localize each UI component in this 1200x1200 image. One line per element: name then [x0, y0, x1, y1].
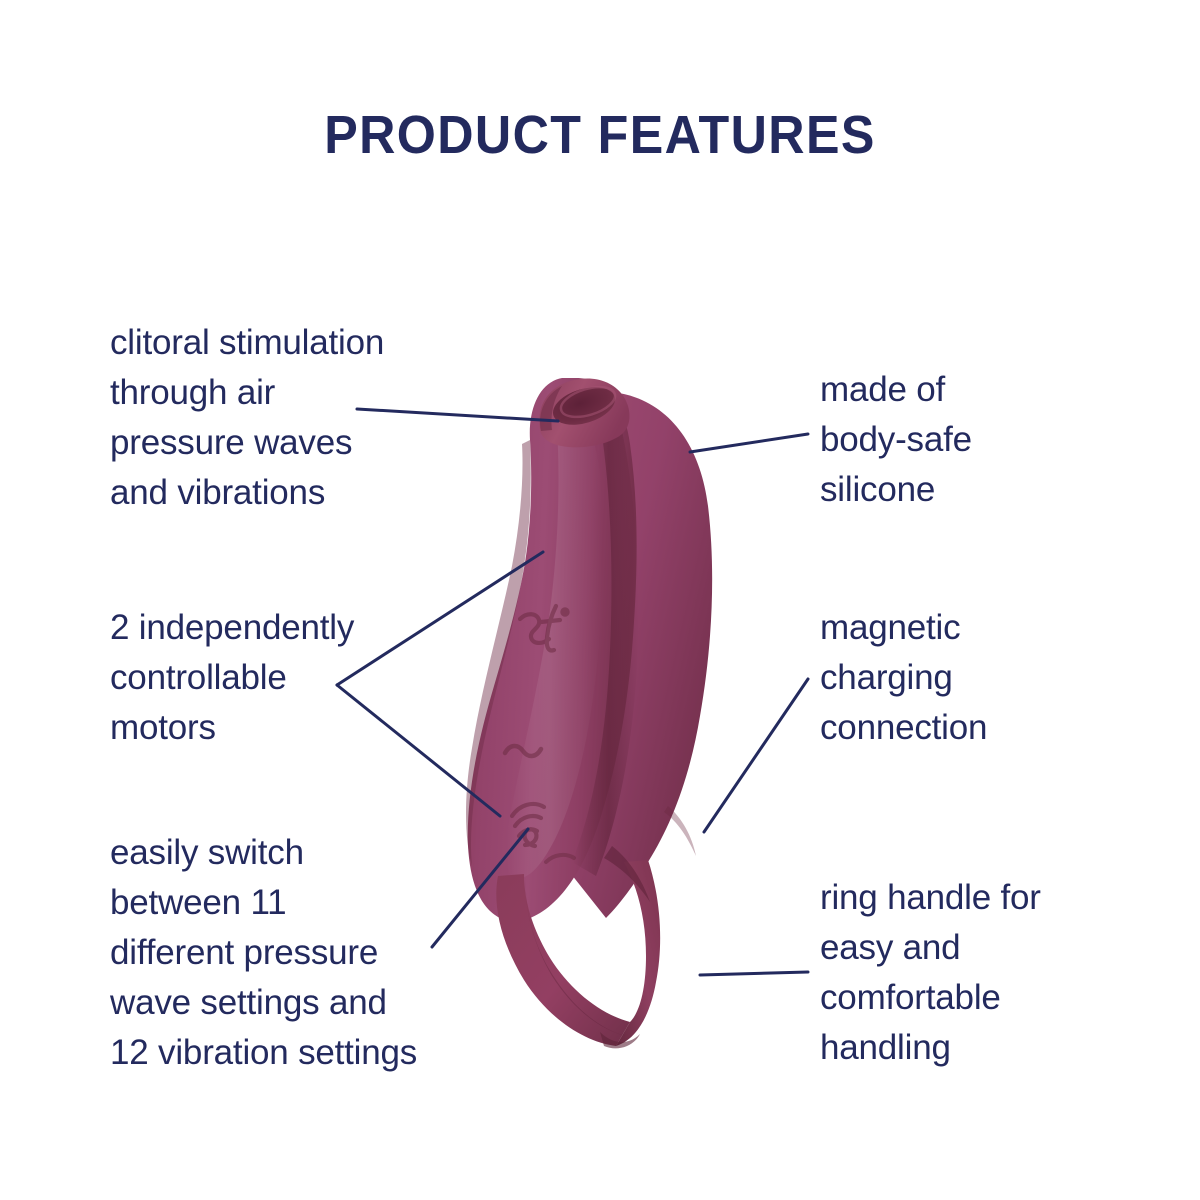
callout-ring-handle: ring handle for easy and comfortable han… [820, 873, 1150, 1073]
callout-independent-motors: 2 independently controllable motors [110, 603, 440, 753]
callout-pressure-wave-settings: easily switch between 11 different press… [110, 828, 490, 1078]
magnetic-charging-contacts [664, 806, 696, 856]
callout-clitoral-stimulation: clitoral stimulation through air pressur… [110, 318, 460, 518]
callout-magnetic-charging: magnetic charging connection [820, 603, 1140, 753]
callout-body-safe-silicone: made of body-safe silicone [820, 365, 1140, 515]
product-features-infographic: PRODUCT FEATURES [0, 0, 1200, 1200]
